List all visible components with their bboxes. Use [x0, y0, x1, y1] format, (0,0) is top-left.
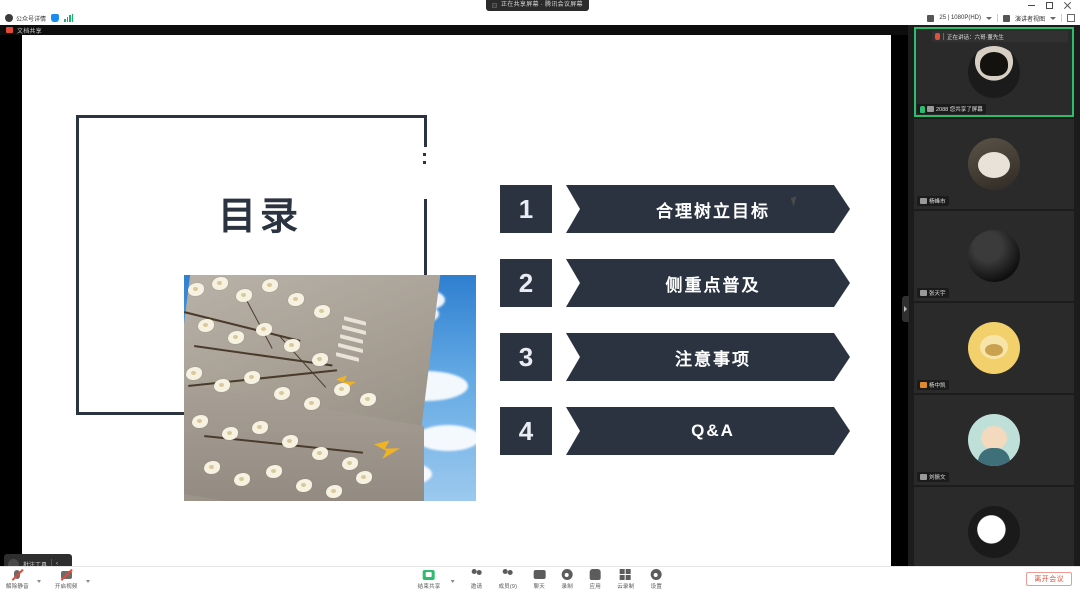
window-controls: [1027, 0, 1078, 11]
camera-off-icon: [927, 106, 934, 112]
app-status-strip: 公众号详情: [0, 11, 908, 25]
mute-button[interactable]: 解除静音: [6, 569, 29, 590]
expand-icon[interactable]: [1067, 14, 1075, 22]
app-icon: [5, 14, 13, 22]
cloud-record-label: 云录制: [617, 582, 634, 590]
agenda-label: 合理树立目标: [566, 185, 850, 233]
agenda-item: 1 合理树立目标: [500, 185, 850, 233]
mic-icon: [920, 106, 925, 113]
chevron-down-icon[interactable]: [450, 580, 454, 583]
chevron-down-icon[interactable]: [1050, 17, 1056, 20]
agenda-label: Q&A: [566, 407, 850, 455]
video-button[interactable]: 开启视频: [55, 569, 78, 590]
participant-tile[interactable]: 杨峰市: [914, 119, 1074, 209]
slide-title: 目录: [218, 185, 302, 240]
mic-muted-icon: [920, 198, 927, 204]
chat-icon: [533, 569, 545, 581]
quality-icon: [927, 15, 934, 22]
window-titlebar: 正在共享屏幕 · 腾讯会议屏幕: [0, 0, 1080, 11]
chevron-down-icon[interactable]: [37, 580, 41, 583]
agenda-item: 4 Q&A: [500, 407, 850, 455]
participants-icon: [502, 569, 514, 581]
apps-label: 应用: [590, 582, 601, 590]
participants-button[interactable]: 成员(9): [498, 569, 517, 590]
participants-label: 成员(9): [498, 582, 517, 590]
cloud-record-icon: [620, 569, 632, 581]
participants-panel: 25 | 1080P(HD) 演讲者视图 正在讲话：六哥·董先生: [908, 11, 1080, 566]
mic-muted-icon: [920, 382, 927, 388]
participant-tile[interactable]: 张天宇: [914, 211, 1074, 301]
agenda-list: 1 合理树立目标 2 侧重点普及 3 注意事项 4 Q&A: [500, 185, 850, 481]
participant-name: 2088 您共享了屏幕: [936, 105, 983, 113]
share-status-pill: 正在共享屏幕 · 腾讯会议屏幕: [486, 0, 589, 11]
share-screen-button[interactable]: 结束共享: [418, 569, 441, 590]
mic-muted-icon: [920, 474, 927, 480]
close-icon[interactable]: [1063, 1, 1072, 10]
avatar: [968, 414, 1020, 466]
participant-tile[interactable]: [914, 487, 1074, 577]
participant-name-badge: 刘振文: [917, 472, 949, 482]
minimize-icon[interactable]: [1027, 1, 1036, 10]
chevron-down-icon[interactable]: [86, 580, 90, 583]
agenda-number: 4: [500, 407, 552, 455]
invite-button[interactable]: 邀请: [470, 569, 482, 590]
participant-name: 刘振文: [929, 473, 946, 481]
camera-off-icon: [60, 569, 72, 581]
shared-screen-stage: 目录: [0, 35, 908, 566]
settings-label: 设置: [651, 582, 662, 590]
app-label-group: 公众号详情: [5, 14, 46, 23]
avatar: [968, 322, 1020, 374]
avatar: [968, 506, 1020, 558]
record-icon: [561, 569, 573, 581]
divider: [1061, 14, 1062, 22]
view-icon: [1003, 15, 1010, 22]
settings-button[interactable]: 设置: [650, 569, 662, 590]
mic-icon: [935, 33, 940, 40]
agenda-item: 3 注意事项: [500, 333, 850, 381]
chevron-down-icon[interactable]: [986, 17, 992, 20]
share-screen-icon: [423, 569, 435, 581]
panel-collapse-icon[interactable]: [902, 296, 909, 322]
participant-name-badge: 2088 您共享了屏幕: [917, 104, 986, 114]
participant-tile[interactable]: 刘振文: [914, 395, 1074, 485]
share-status-text: 正在共享屏幕 · 腾讯会议屏幕: [501, 0, 583, 11]
toolbar-left-group: 解除静音 开启视频: [6, 569, 90, 590]
participant-tiles: 正在讲话：六哥·董先生 2088 您共享了屏幕 杨峰市: [908, 25, 1080, 566]
cloud-record-button[interactable]: 云录制: [617, 569, 634, 590]
speaking-label: 正在讲话：六哥·董先生: [947, 33, 1004, 41]
screen-share-icon: [6, 27, 13, 33]
share-banner-label: 文档共享: [17, 26, 42, 35]
settings-gear-icon: [650, 569, 662, 581]
share-pill-icon: [492, 3, 497, 8]
participant-name: 杨中凯: [929, 381, 946, 389]
agenda-label: 侧重点普及: [566, 259, 850, 307]
divider: [943, 33, 944, 40]
participant-name-badge: 张天宇: [917, 288, 949, 298]
signal-bars-icon: [64, 14, 73, 22]
frame-dots-icon: [423, 153, 426, 169]
maximize-icon[interactable]: [1045, 1, 1054, 10]
shield-icon: [51, 14, 59, 22]
apps-icon: [589, 569, 601, 581]
layout-label[interactable]: 25 | 1080P(HD): [939, 15, 981, 21]
chat-button[interactable]: 聊天: [533, 569, 545, 590]
participant-name: 杨峰市: [929, 197, 946, 205]
share-banner: 文档共享: [0, 25, 908, 35]
meeting-toolbar: 解除静音 开启视频 结束共享 邀请 成员(9): [0, 566, 1080, 591]
toolbar-center-group: 结束共享 邀请 成员(9) 聊天 录制 应用: [418, 569, 663, 590]
invite-label: 邀请: [471, 582, 482, 590]
participant-name: 张天宇: [929, 289, 946, 297]
agenda-number: 3: [500, 333, 552, 381]
avatar: [968, 138, 1020, 190]
meeting-window: 正在共享屏幕 · 腾讯会议屏幕 公众号详情 文档共享 目录: [0, 0, 1080, 591]
view-label[interactable]: 演讲者视图: [1015, 14, 1045, 23]
participant-name-badge: 杨中凯: [917, 380, 949, 390]
panel-toolbar: 25 | 1080P(HD) 演讲者视图: [908, 11, 1080, 25]
slide-photo: [184, 275, 476, 501]
record-label: 录制: [562, 582, 573, 590]
cloud: [416, 425, 476, 451]
agenda-item: 2 侧重点普及: [500, 259, 850, 307]
invite-icon: [470, 569, 482, 581]
mic-muted-icon: [920, 290, 927, 296]
agenda-number: 2: [500, 259, 552, 307]
avatar: [968, 46, 1020, 98]
agenda-label: 注意事项: [566, 333, 850, 381]
record-button[interactable]: 录制: [561, 569, 573, 590]
participant-name-badge: 杨峰市: [917, 196, 949, 206]
mic-muted-icon: [11, 569, 23, 581]
presentation-slide: 目录: [22, 35, 891, 566]
share-screen-label: 结束共享: [418, 582, 441, 590]
participant-tile[interactable]: 杨中凯: [914, 303, 1074, 393]
speaking-indicator: 正在讲话：六哥·董先生: [932, 31, 1068, 42]
app-label: 公众号详情: [16, 14, 46, 23]
mute-button-label: 解除静音: [6, 582, 29, 590]
apps-button[interactable]: 应用: [589, 569, 601, 590]
divider: [997, 14, 998, 22]
video-button-label: 开启视频: [55, 582, 78, 590]
avatar: [968, 230, 1020, 282]
agenda-number: 1: [500, 185, 552, 233]
participant-tile[interactable]: 正在讲话：六哥·董先生 2088 您共享了屏幕: [914, 27, 1074, 117]
chat-label: 聊天: [534, 582, 545, 590]
leave-meeting-button[interactable]: 离开会议: [1026, 572, 1072, 586]
